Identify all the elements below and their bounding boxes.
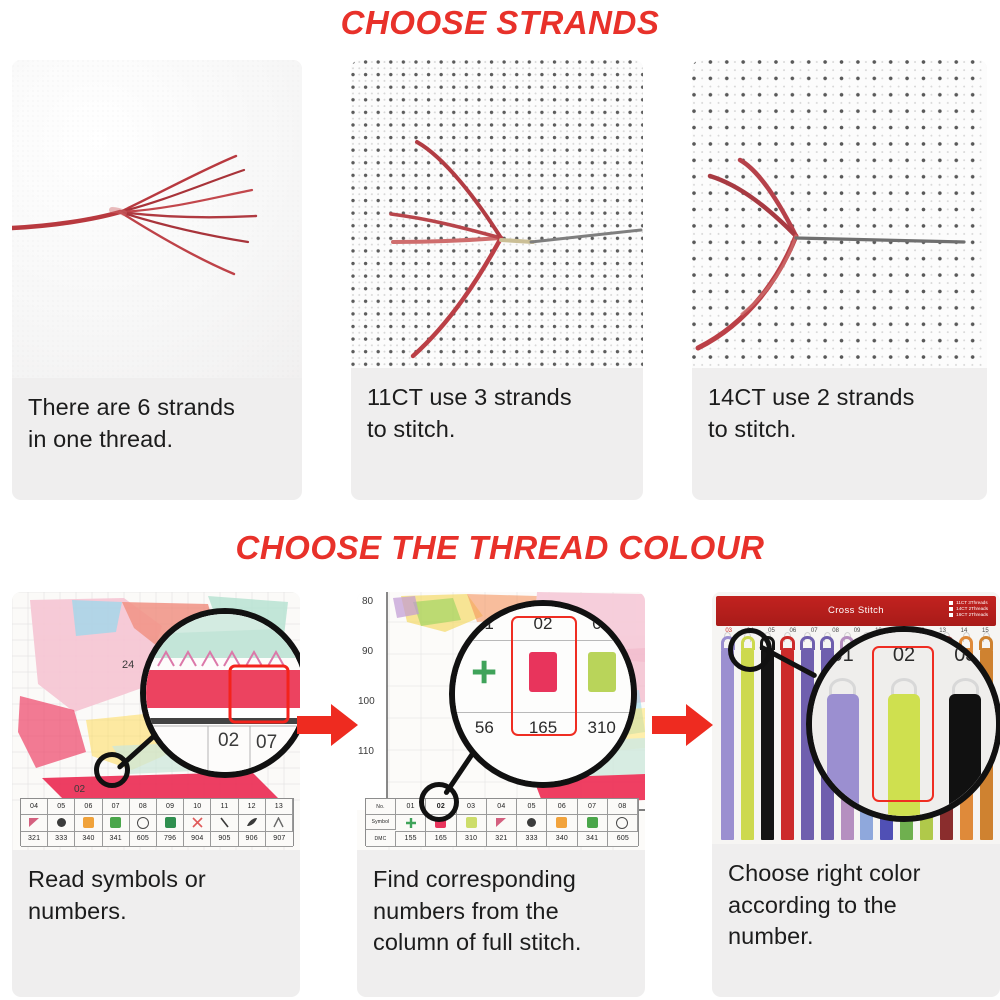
caption-line: to stitch. bbox=[367, 414, 627, 446]
card-find-numbers: 80 90 100 110 bbox=[357, 592, 645, 997]
highlighted-skein-box bbox=[872, 646, 934, 802]
needle-and-three-strands-illustration bbox=[351, 60, 643, 368]
caption-read-symbols: Read symbols or numbers. bbox=[12, 850, 300, 927]
card-six-strands: There are 6 strands in one thread. bbox=[12, 60, 302, 500]
card-read-symbols: 24 02 bbox=[12, 592, 300, 997]
magnified-skein-content: 010203 bbox=[812, 632, 996, 816]
magnified-skein-body bbox=[827, 694, 859, 816]
caption-line: Choose right color bbox=[728, 858, 984, 890]
magnified-symbol-swatch bbox=[470, 652, 498, 692]
thread-colour-card-row: 24 02 bbox=[0, 592, 1000, 1000]
caption-14ct: 14CT use 2 strands to stitch. bbox=[692, 368, 987, 445]
magnifier-lens: 010203 bbox=[806, 626, 1000, 822]
caption-six-strands: There are 6 strands in one thread. bbox=[12, 378, 302, 455]
magnifier-target-ring bbox=[419, 782, 459, 822]
magnified-legend-column: 03310 bbox=[572, 606, 631, 782]
card-choose-colour: Cross Stitch 11CT 3Threads14CT 2Threads1… bbox=[712, 592, 1000, 997]
arrow-right-icon bbox=[652, 702, 714, 748]
card-11ct-three-strands: 11CT use 3 strands to stitch. bbox=[351, 60, 643, 500]
caption-choose-colour: Choose right color according to the numb… bbox=[712, 844, 1000, 953]
section-heading-choose-thread-colour: CHOOSE THE THREAD COLOUR bbox=[0, 531, 1000, 564]
caption-line: 14CT use 2 strands bbox=[708, 382, 971, 414]
magnified-dmc-number: 56 bbox=[455, 718, 514, 738]
magnified-dmc-number: 310 bbox=[572, 718, 631, 738]
caption-line: numbers from the bbox=[373, 896, 629, 928]
svg-text:07: 07 bbox=[256, 732, 277, 753]
magnified-skein-number: 01 bbox=[812, 644, 873, 667]
caption-line: according to the bbox=[728, 890, 984, 922]
magnifier-lens: 02 07 bbox=[140, 608, 300, 778]
magnified-skein-number: 03 bbox=[935, 644, 996, 667]
photo-11ct-aida bbox=[351, 60, 643, 368]
magnified-code: 03 bbox=[572, 614, 631, 634]
section-heading-choose-strands: CHOOSE STRANDS bbox=[0, 6, 1000, 39]
svg-text:02: 02 bbox=[218, 730, 239, 751]
photo-pattern-chart: 24 02 bbox=[12, 592, 300, 850]
arrow-right-icon bbox=[297, 702, 359, 748]
caption-line: to stitch. bbox=[708, 414, 971, 446]
caption-line: 11CT use 3 strands bbox=[367, 382, 627, 414]
magnified-legend-column: 0156 bbox=[455, 606, 514, 782]
magnified-symbol-swatch bbox=[588, 652, 616, 692]
magnified-skein-column: 01 bbox=[812, 632, 873, 816]
six-strands-illustration bbox=[12, 60, 302, 378]
magnifier-overlay: 010203 bbox=[712, 592, 1000, 844]
caption-find-numbers: Find corresponding numbers from the colu… bbox=[357, 850, 645, 959]
magnifier-target-ring bbox=[94, 752, 130, 788]
caption-11ct: 11CT use 3 strands to stitch. bbox=[351, 368, 643, 445]
caption-line: Read symbols or bbox=[28, 864, 284, 896]
photo-thread-skein-card: Cross Stitch 11CT 3Threads14CT 2Threads1… bbox=[712, 592, 1000, 844]
magnified-code: 01 bbox=[455, 614, 514, 634]
photo-full-stitch-column: 80 90 100 110 bbox=[357, 592, 645, 850]
magnifier-target-ring bbox=[728, 628, 772, 672]
highlighted-column-box bbox=[511, 616, 577, 736]
photo-14ct-aida bbox=[692, 60, 987, 368]
magnifier-lens: 01560216503310 bbox=[449, 600, 637, 788]
caption-line: number. bbox=[728, 921, 984, 953]
caption-line: column of full stitch. bbox=[373, 927, 629, 959]
photo-six-strands bbox=[12, 60, 302, 378]
caption-line: numbers. bbox=[28, 896, 284, 928]
card-14ct-two-strands: 14CT use 2 strands to stitch. bbox=[692, 60, 987, 500]
caption-line: There are 6 strands bbox=[28, 392, 286, 424]
magnifier-overlay: 01560216503310 bbox=[357, 592, 645, 850]
caption-line: Find corresponding bbox=[373, 864, 629, 896]
needle-and-two-strands-illustration bbox=[692, 60, 987, 368]
caption-line: in one thread. bbox=[28, 424, 286, 456]
magnified-skein-body bbox=[949, 694, 981, 816]
strands-card-row: There are 6 strands in one thread. 11CT … bbox=[0, 60, 1000, 505]
magnified-legend-content: 01560216503310 bbox=[455, 606, 631, 782]
magnified-skein-column: 03 bbox=[935, 632, 996, 816]
magnifier-overlay: 02 07 bbox=[12, 592, 300, 850]
magnified-chart-content: 02 07 bbox=[146, 614, 300, 772]
